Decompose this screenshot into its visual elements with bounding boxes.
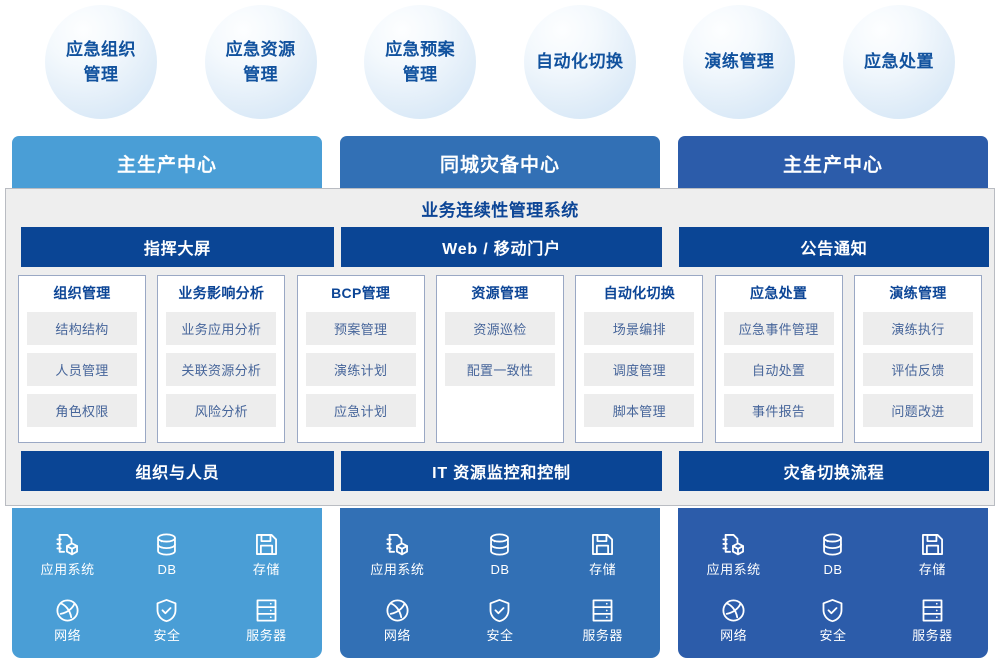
shield-check-icon <box>486 597 513 624</box>
infra-item-app-system[interactable]: 应用系统 <box>370 531 424 576</box>
top-bar-row: 指挥大屏 Web / 移动门户 公告通知 <box>14 227 986 267</box>
infra-item-label: 安全 <box>486 629 513 642</box>
infra-item-security[interactable]: 安全 <box>486 597 513 642</box>
infra-item-label: 存储 <box>919 563 946 576</box>
storage-icon <box>589 531 616 558</box>
infrastructure-row: 应用系统 DB 存储 <box>0 508 1000 663</box>
module-card-strip: 组织管理 结构结构 人员管理 角色权限 业务影响分析 业务应用分析 关联资源分析… <box>18 275 982 443</box>
app-system-icon <box>720 531 747 558</box>
top-module-4[interactable]: 演练管理 <box>683 5 795 119</box>
infra-item-label: DB <box>823 563 842 576</box>
infra-item-security[interactable]: 安全 <box>819 597 846 642</box>
card-item[interactable]: 资源巡检 <box>445 312 555 345</box>
infra-item-label: 应用系统 <box>370 563 424 576</box>
infra-item-security[interactable]: 安全 <box>153 597 180 642</box>
infra-item-server[interactable]: 服务器 <box>246 597 287 642</box>
module-card-automation[interactable]: 自动化切换 场景编排 调度管理 脚本管理 <box>575 275 703 443</box>
infra-item-label: 服务器 <box>912 629 953 642</box>
top-module-5-line-0: 应急处置 <box>864 49 934 75</box>
card-item[interactable]: 关联资源分析 <box>166 353 276 386</box>
module-card-bia[interactable]: 业务影响分析 业务应用分析 关联资源分析 风险分析 <box>157 275 285 443</box>
infra-item-label: 网络 <box>54 629 81 642</box>
infra-item-app-system[interactable]: 应用系统 <box>41 531 95 576</box>
infra-item-storage[interactable]: 存储 <box>589 531 616 576</box>
top-bar-web-mobile-portal[interactable]: Web / 移动门户 <box>341 227 662 267</box>
network-icon <box>720 597 747 624</box>
network-icon <box>384 597 411 624</box>
infra-item-label: DB <box>490 563 509 576</box>
database-icon <box>819 531 846 558</box>
bottom-bar-org-people[interactable]: 组织与人员 <box>21 451 334 491</box>
center-header-primary-production[interactable]: 主生产中心 <box>12 136 322 190</box>
bottom-bar-row: 组织与人员 IT 资源监控和控制 灾备切换流程 <box>14 451 986 491</box>
card-item[interactable]: 演练计划 <box>306 353 416 386</box>
card-item[interactable]: 调度管理 <box>584 353 694 386</box>
top-module-0-line-0: 应急组织 <box>66 37 136 63</box>
top-module-5[interactable]: 应急处置 <box>843 5 955 119</box>
card-item[interactable]: 事件报告 <box>724 394 834 427</box>
infra-item-db[interactable]: DB <box>486 531 513 576</box>
card-item[interactable]: 风险分析 <box>166 394 276 427</box>
card-item[interactable]: 应急事件管理 <box>724 312 834 345</box>
infra-item-app-system[interactable]: 应用系统 <box>707 531 761 576</box>
center-header-metro-dr[interactable]: 同城灾备中心 <box>340 136 660 190</box>
infra-item-db[interactable]: DB <box>819 531 846 576</box>
card-item[interactable]: 演练执行 <box>863 312 973 345</box>
top-module-3-line-0: 自动化切换 <box>536 49 624 75</box>
card-item[interactable]: 问题改进 <box>863 394 973 427</box>
top-module-1-line-0: 应急资源 <box>226 37 296 63</box>
infra-item-label: 网络 <box>720 629 747 642</box>
module-card-drill[interactable]: 演练管理 演练执行 评估反馈 问题改进 <box>854 275 982 443</box>
infra-item-label: 存储 <box>253 563 280 576</box>
top-bar-command-screen[interactable]: 指挥大屏 <box>21 227 334 267</box>
infra-item-storage[interactable]: 存储 <box>253 531 280 576</box>
card-item[interactable]: 人员管理 <box>27 353 137 386</box>
infra-item-label: 应用系统 <box>41 563 95 576</box>
card-title: 演练管理 <box>863 283 973 303</box>
card-item[interactable]: 配置一致性 <box>445 353 555 386</box>
app-system-icon <box>384 531 411 558</box>
top-bar-announcement[interactable]: 公告通知 <box>679 227 989 267</box>
card-item[interactable]: 评估反馈 <box>863 353 973 386</box>
infrastructure-block-primary: 应用系统 DB 存储 <box>12 508 322 658</box>
card-item[interactable]: 结构结构 <box>27 312 137 345</box>
storage-icon <box>253 531 280 558</box>
app-system-icon <box>54 531 81 558</box>
infra-item-label: 服务器 <box>582 629 623 642</box>
infra-item-label: 应用系统 <box>707 563 761 576</box>
module-card-org[interactable]: 组织管理 结构结构 人员管理 角色权限 <box>18 275 146 443</box>
card-item[interactable]: 应急计划 <box>306 394 416 427</box>
top-module-4-line-0: 演练管理 <box>704 49 774 75</box>
card-item[interactable]: 预案管理 <box>306 312 416 345</box>
server-rack-icon <box>589 597 616 624</box>
card-item[interactable]: 场景编排 <box>584 312 694 345</box>
network-icon <box>54 597 81 624</box>
infra-item-label: DB <box>157 563 176 576</box>
top-module-2[interactable]: 应急预案 管理 <box>364 5 476 119</box>
top-module-1[interactable]: 应急资源 管理 <box>205 5 317 119</box>
database-icon <box>486 531 513 558</box>
infra-item-network[interactable]: 网络 <box>720 597 747 642</box>
card-title: 应急处置 <box>724 283 834 303</box>
card-title: 自动化切换 <box>584 283 694 303</box>
bcm-system-panel: 业务连续性管理系统 指挥大屏 Web / 移动门户 公告通知 组织管理 结构结构… <box>5 188 995 506</box>
top-module-row: 应急组织 管理 应急资源 管理 应急预案 管理 自动化切换 演练管理 应急处置 <box>0 0 1000 128</box>
system-title: 业务连续性管理系统 <box>6 189 994 227</box>
infra-item-storage[interactable]: 存储 <box>919 531 946 576</box>
module-card-resource[interactable]: 资源管理 资源巡检 配置一致性 <box>436 275 564 443</box>
infra-item-network[interactable]: 网络 <box>54 597 81 642</box>
shield-check-icon <box>819 597 846 624</box>
top-module-2-line-0: 应急预案 <box>385 37 455 63</box>
card-title: 组织管理 <box>27 283 137 303</box>
infra-item-label: 安全 <box>819 629 846 642</box>
module-card-bcp[interactable]: BCP管理 预案管理 演练计划 应急计划 <box>297 275 425 443</box>
card-item[interactable]: 角色权限 <box>27 394 137 427</box>
bottom-bar-dr-switch-process[interactable]: 灾备切换流程 <box>679 451 989 491</box>
storage-icon <box>919 531 946 558</box>
card-item[interactable]: 自动处置 <box>724 353 834 386</box>
card-item[interactable]: 业务应用分析 <box>166 312 276 345</box>
top-module-0[interactable]: 应急组织 管理 <box>45 5 157 119</box>
server-rack-icon <box>919 597 946 624</box>
infra-item-server[interactable]: 服务器 <box>582 597 623 642</box>
infra-item-server[interactable]: 服务器 <box>912 597 953 642</box>
card-title: BCP管理 <box>306 283 416 303</box>
infra-item-label: 网络 <box>384 629 411 642</box>
card-item[interactable]: 脚本管理 <box>584 394 694 427</box>
center-header-remote-production[interactable]: 主生产中心 <box>678 136 988 190</box>
server-rack-icon <box>253 597 280 624</box>
center-header-row: 主生产中心 同城灾备中心 主生产中心 <box>0 136 1000 190</box>
infra-item-network[interactable]: 网络 <box>384 597 411 642</box>
infra-item-label: 服务器 <box>246 629 287 642</box>
bottom-bar-it-resource-monitor[interactable]: IT 资源监控和控制 <box>341 451 662 491</box>
infra-item-db[interactable]: DB <box>153 531 180 576</box>
card-title: 业务影响分析 <box>166 283 276 303</box>
module-card-emergency[interactable]: 应急处置 应急事件管理 自动处置 事件报告 <box>715 275 843 443</box>
infrastructure-block-remote: 应用系统 DB 存储 <box>678 508 988 658</box>
top-module-1-line-1: 管理 <box>226 62 296 88</box>
infra-item-label: 安全 <box>153 629 180 642</box>
top-module-2-line-1: 管理 <box>385 62 455 88</box>
infrastructure-block-metro-dr: 应用系统 DB 存储 <box>340 508 660 658</box>
database-icon <box>153 531 180 558</box>
shield-check-icon <box>153 597 180 624</box>
infra-item-label: 存储 <box>589 563 616 576</box>
top-module-0-line-1: 管理 <box>66 62 136 88</box>
top-module-3[interactable]: 自动化切换 <box>524 5 636 119</box>
card-title: 资源管理 <box>445 283 555 303</box>
